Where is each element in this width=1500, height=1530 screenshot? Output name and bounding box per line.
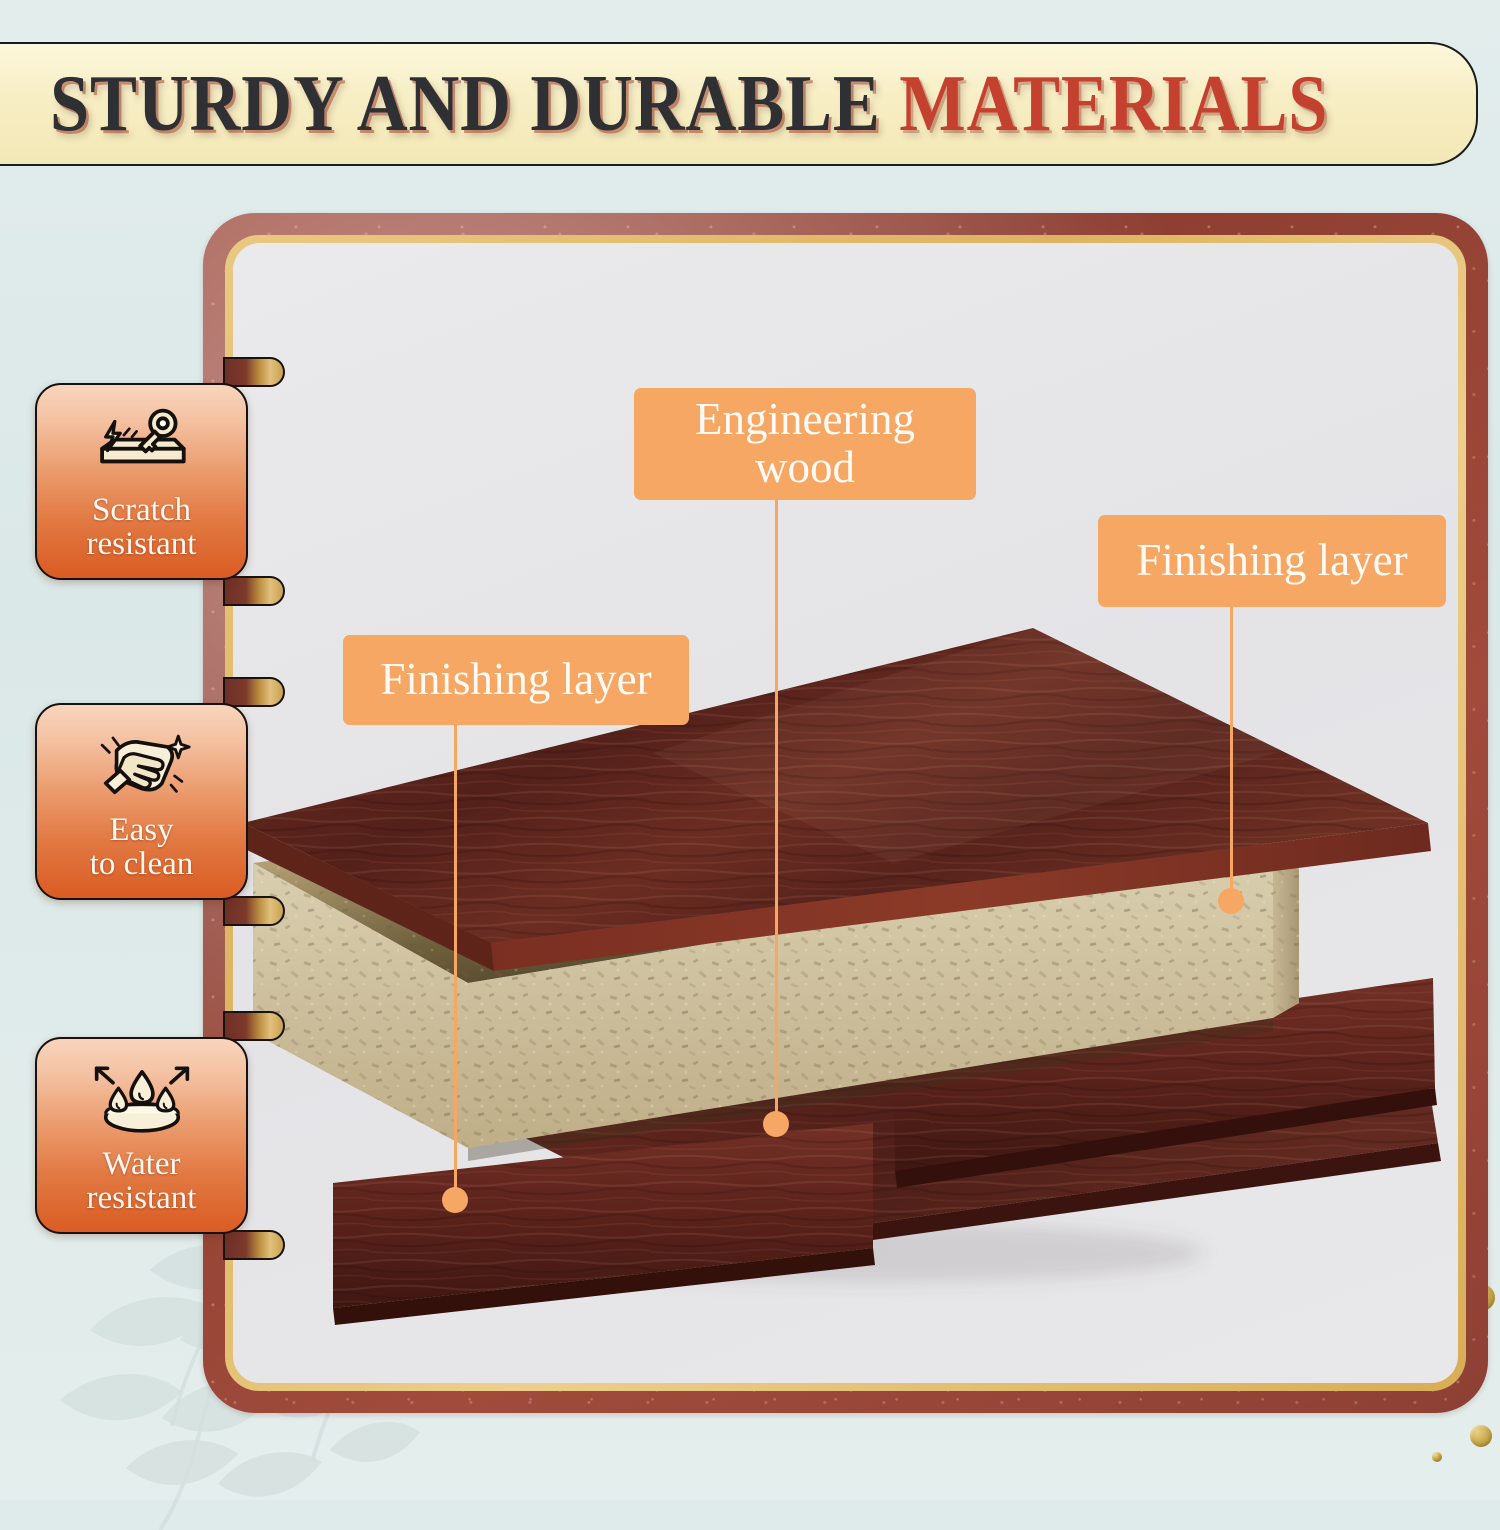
badge-label-line-1: Water bbox=[87, 1147, 197, 1181]
badge-label: Water resistant bbox=[87, 1147, 197, 1216]
callout-line-1: Finishing layer bbox=[380, 656, 651, 704]
badge-body[interactable]: Easy to clean bbox=[35, 703, 248, 900]
header-banner: STURDY AND DURABLE MATERIALS bbox=[0, 42, 1478, 166]
badge-fold-top bbox=[223, 357, 285, 387]
page-background: STURDY AND DURABLE MATERIALS bbox=[0, 0, 1500, 1500]
leader-dot-finishing-layer-right bbox=[1218, 888, 1244, 914]
badge-label: Easy to clean bbox=[90, 813, 194, 882]
leader-line-engineering-wood bbox=[775, 500, 778, 1124]
badge-fold-bottom bbox=[223, 1230, 285, 1260]
leader-dot-engineering-wood bbox=[763, 1111, 789, 1137]
feature-badge-easy-to-clean[interactable]: Easy to clean bbox=[35, 703, 248, 900]
badge-body[interactable]: Scratch resistant bbox=[35, 383, 248, 580]
page-title: STURDY AND DURABLE MATERIALS bbox=[50, 64, 1328, 144]
badge-label-line-2: to clean bbox=[90, 847, 194, 881]
product-frame: Engineering wood Finishing layer Finishi… bbox=[203, 213, 1488, 1413]
callout-line-2: wood bbox=[755, 444, 855, 492]
feature-badge-scratch-resistant[interactable]: Scratch resistant bbox=[35, 383, 248, 580]
leader-dot-finishing-layer-left bbox=[442, 1187, 468, 1213]
badge-label-line-2: resistant bbox=[87, 527, 197, 561]
page-title-accent: MATERIALS bbox=[881, 60, 1329, 148]
badge-body[interactable]: Water resistant bbox=[35, 1037, 248, 1234]
leader-line-finishing-layer-right bbox=[1230, 607, 1233, 898]
callout-line-1: Engineering bbox=[695, 396, 915, 444]
callout-line-1: Finishing layer bbox=[1136, 537, 1407, 585]
badge-fold-bottom bbox=[223, 896, 285, 926]
badge-label-line-2: resistant bbox=[87, 1181, 197, 1215]
badge-label: Scratch resistant bbox=[87, 493, 197, 562]
leader-line-finishing-layer-left bbox=[454, 725, 457, 1199]
badge-fold-bottom bbox=[223, 576, 285, 606]
badge-label-line-1: Scratch bbox=[87, 493, 197, 527]
water-droplets-repelling-icon bbox=[87, 1061, 197, 1139]
page-title-primary: STURDY AND DURABLE bbox=[50, 60, 881, 148]
badge-fold-top bbox=[223, 677, 285, 707]
badge-fold-top bbox=[223, 1011, 285, 1041]
hand-wiping-cloth-icon bbox=[87, 727, 197, 805]
callout-finishing-layer-right[interactable]: Finishing layer bbox=[1098, 515, 1446, 607]
callout-engineering-wood[interactable]: Engineering wood bbox=[634, 388, 976, 500]
product-stage: Engineering wood Finishing layer Finishi… bbox=[233, 243, 1458, 1383]
gold-speckle-dot bbox=[1470, 1425, 1492, 1447]
gold-speckle-dot bbox=[1432, 1452, 1442, 1462]
key-scratching-board-icon bbox=[87, 407, 197, 485]
feature-badge-water-resistant[interactable]: Water resistant bbox=[35, 1037, 248, 1234]
badge-label-line-1: Easy bbox=[90, 813, 194, 847]
callout-finishing-layer-left[interactable]: Finishing layer bbox=[343, 635, 689, 725]
